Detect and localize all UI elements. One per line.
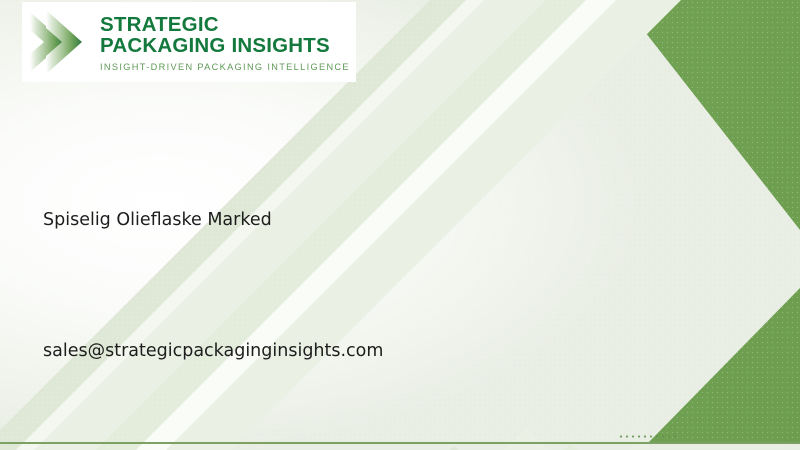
chevron-arrow-icon bbox=[24, 6, 96, 78]
logo-line-1: STRATEGIC bbox=[100, 14, 350, 35]
logo-tagline: INSIGHT-DRIVEN PACKAGING INTELLIGENCE bbox=[100, 62, 350, 72]
dotted-accent-strip bbox=[618, 434, 680, 439]
page-title: Spiselig Olieflaske Marked bbox=[43, 210, 272, 230]
company-logo: STRATEGIC PACKAGING INSIGHTS INSIGHT-DRI… bbox=[22, 2, 356, 82]
title-slide: STRATEGIC PACKAGING INSIGHTS INSIGHT-DRI… bbox=[0, 0, 800, 450]
contact-email: sales@strategicpackaginginsights.com bbox=[43, 341, 383, 361]
logo-wordmark: STRATEGIC PACKAGING INSIGHTS INSIGHT-DRI… bbox=[100, 12, 350, 72]
bottom-rule bbox=[0, 442, 800, 444]
logo-line-2: PACKAGING INSIGHTS bbox=[100, 35, 350, 56]
